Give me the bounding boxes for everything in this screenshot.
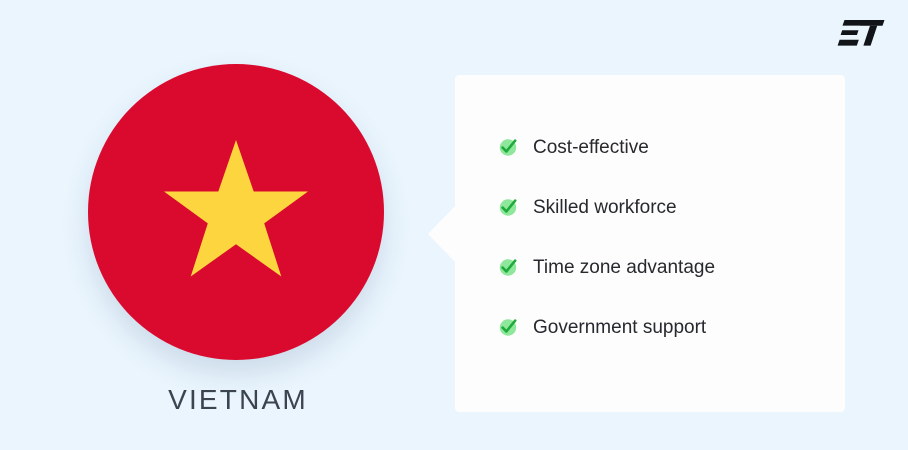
benefits-card: Cost-effective Skilled workforce Time zo… [455,75,845,412]
country-flag-block: VIETNAM [88,64,388,416]
five-pointed-star-icon [161,137,311,287]
vietnam-flag-icon [88,64,384,360]
list-item-label: Skilled workforce [533,198,677,217]
list-item: Government support [455,297,845,357]
list-item-label: Cost-effective [533,138,649,157]
list-item: Skilled workforce [455,177,845,237]
country-name-label: VIETNAM [88,384,388,416]
list-item: Cost-effective [455,117,845,177]
infographic-root: { "brand": { "logo_text": "ET", "logo_ic… [0,0,908,450]
check-icon [498,317,518,337]
list-item: Time zone advantage [455,237,845,297]
list-item-label: Government support [533,318,706,337]
benefits-list: Cost-effective Skilled workforce Time zo… [455,117,845,357]
et-monogram-icon [834,16,886,50]
check-icon [498,137,518,157]
check-icon [498,257,518,277]
list-item-label: Time zone advantage [533,258,715,277]
check-icon [498,197,518,217]
card-pointer-arrow [428,205,456,263]
